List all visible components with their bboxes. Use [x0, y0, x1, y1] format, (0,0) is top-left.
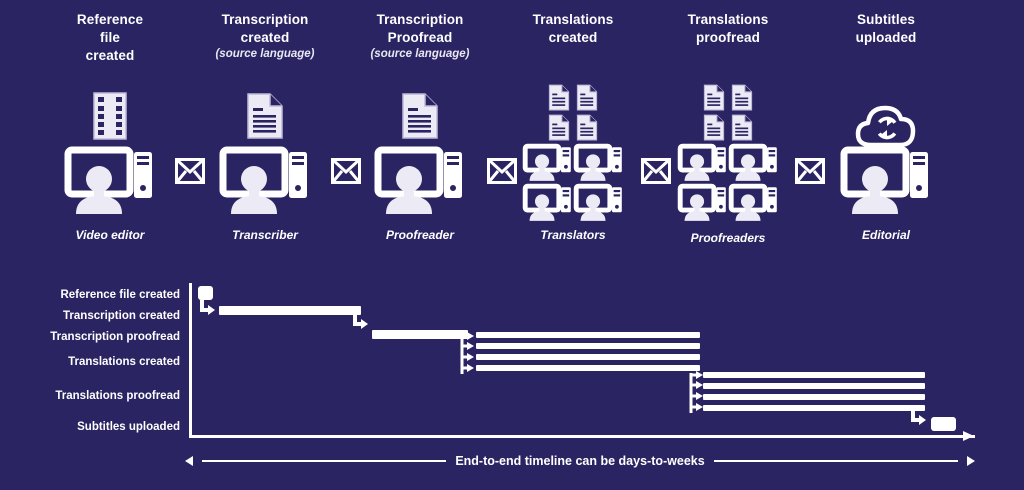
stage-title: Translations proofread: [688, 11, 769, 47]
document-icon: [401, 92, 439, 140]
gantt-x-axis: [189, 435, 975, 438]
gantt-row-labels: Reference file created Transcription cre…: [0, 262, 180, 447]
document-icon: [731, 114, 753, 141]
actor-zone: [185, 142, 345, 220]
workstation-icon: [730, 144, 778, 182]
document-icon: [548, 84, 570, 111]
gantt-bar-translations-proofread[interactable]: [703, 394, 925, 400]
gantt-y-axis: [189, 283, 192, 438]
stage-translations-created[interactable]: Translations created: [497, 0, 649, 258]
stage-title: Transcription created: [222, 11, 309, 47]
document-icon: [246, 92, 284, 140]
gantt-bar-transcription-proofread[interactable]: [372, 330, 468, 339]
gantt-bar-transcription-created[interactable]: [219, 306, 361, 315]
workstation-icon: [575, 184, 623, 222]
actor-zone: [497, 143, 649, 223]
gantt-label-reference-file-created: Reference file created: [5, 289, 180, 301]
workstation-icon: [679, 184, 727, 222]
envelope-icon: [487, 158, 517, 184]
stage-role-label: Translators: [497, 228, 649, 242]
actor-zone: [810, 142, 962, 220]
workstation-icon: [376, 146, 464, 216]
gantt-bar-translations-created[interactable]: [476, 354, 700, 360]
stage-role-label: Editorial: [810, 228, 962, 242]
timeline-caption: End-to-end timeline can be days-to-weeks: [185, 454, 975, 468]
caption-rule-left: [202, 460, 446, 462]
dependency-fanout-bracket-icon: [459, 334, 477, 376]
gantt-chart: Reference file created Transcription cre…: [0, 262, 1024, 490]
stage-role-label: Proofreader: [340, 228, 500, 242]
arrow-left-icon: [185, 456, 193, 466]
document-icon: [548, 114, 570, 141]
envelope-icon: [331, 158, 361, 184]
workstation-cluster: [679, 144, 778, 222]
workstation-icon: [679, 144, 727, 182]
artifact-zone: [25, 82, 195, 140]
dependency-arrow-icon: [352, 310, 371, 335]
dependency-arrow-icon: [199, 300, 217, 320]
gantt-bar-subtitles-uploaded[interactable]: [931, 417, 956, 431]
document-icon: [731, 84, 753, 111]
artifact-zone: [810, 90, 962, 148]
gantt-label-transcription-created: Transcription created: [5, 310, 180, 322]
stage-transcription-created[interactable]: Transcription created (source language): [185, 0, 345, 258]
arrow-right-icon: [967, 456, 975, 466]
gantt-label-transcription-proofread: Transcription proofread: [5, 331, 180, 343]
gantt-label-translations-created: Translations created: [5, 356, 180, 368]
gantt-bar-translations-proofread[interactable]: [703, 383, 925, 389]
stage-title: Subtitles uploaded: [856, 11, 917, 47]
film-strip-icon: [93, 92, 127, 140]
workflow-stage-row: Reference file created: [0, 0, 1024, 258]
stage-subtitle: (source language): [370, 47, 469, 62]
actor-zone: [25, 142, 195, 220]
stage-title: Reference file created: [77, 11, 143, 66]
gantt-bar-translations-proofread[interactable]: [703, 405, 925, 411]
stage-transcription-proofread[interactable]: Transcription Proofread (source language…: [340, 0, 500, 258]
timeline-caption-text: End-to-end timeline can be days-to-weeks: [455, 454, 704, 468]
document-icon: [576, 114, 598, 141]
gantt-bar-translations-created[interactable]: [476, 332, 700, 338]
stage-role-label: Proofreaders: [652, 231, 804, 245]
workstation-icon: [524, 184, 572, 222]
document-cluster: [703, 84, 753, 141]
workstation-icon: [66, 146, 154, 216]
stage-title: Transcription Proofread: [377, 11, 464, 47]
dependency-arrow-icon: [910, 410, 929, 430]
gantt-label-subtitles-uploaded: Subtitles uploaded: [5, 421, 180, 433]
workstation-icon: [221, 146, 309, 216]
actor-zone: [652, 143, 804, 223]
stage-role-label: Video editor: [25, 228, 195, 242]
caption-rule-right: [714, 460, 958, 462]
document-cluster: [548, 84, 598, 141]
workstation-icon: [730, 184, 778, 222]
workstation-icon: [575, 144, 623, 182]
gantt-bar-translations-created[interactable]: [476, 343, 700, 349]
artifact-zone: [185, 82, 345, 140]
stage-title: Translations created: [533, 11, 614, 47]
document-icon: [576, 84, 598, 111]
workstation-cluster: [524, 144, 623, 222]
workstation-icon: [524, 144, 572, 182]
gantt-bar-translations-proofread[interactable]: [703, 372, 925, 378]
stage-reference-file-created[interactable]: Reference file created: [25, 0, 195, 258]
gantt-bar-reference-file-created[interactable]: [198, 286, 213, 300]
artifact-zone: [340, 82, 500, 140]
gantt-x-axis-arrowhead: [963, 429, 979, 445]
gantt-bar-translations-created[interactable]: [476, 365, 700, 371]
artifact-zone: [497, 84, 649, 140]
document-icon: [703, 114, 725, 141]
workstation-icon: [842, 146, 930, 216]
artifact-zone: [652, 84, 804, 140]
stage-role-label: Transcriber: [185, 228, 345, 242]
envelope-icon: [795, 158, 825, 184]
actor-zone: [340, 142, 500, 220]
stage-subtitles-uploaded[interactable]: Subtitles uploaded: [810, 0, 962, 258]
envelope-icon: [175, 158, 205, 184]
envelope-icon: [641, 158, 671, 184]
gantt-label-translations-proofread: Translations proofread: [5, 390, 180, 402]
stage-translations-proofread[interactable]: Translations proofread: [652, 0, 804, 258]
document-icon: [703, 84, 725, 111]
stage-subtitle: (source language): [215, 47, 314, 62]
